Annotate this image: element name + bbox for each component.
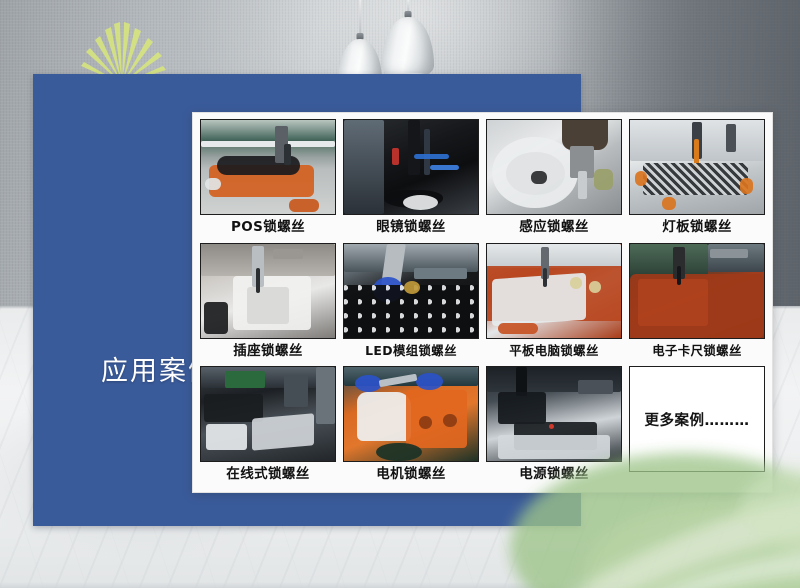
more-cases-label: 更多案例………	[645, 409, 750, 430]
case-item-power[interactable]: 电源锁螺丝	[486, 366, 622, 488]
cases-grid: POS锁螺丝 眼镜锁螺丝	[200, 119, 765, 488]
case-item-glasses[interactable]: 眼镜锁螺丝	[343, 119, 479, 241]
case-item-led[interactable]: LED模组锁螺丝	[343, 243, 479, 365]
case-label: LED模组锁螺丝	[365, 344, 457, 358]
case-label: POS锁螺丝	[231, 220, 305, 235]
case-label: 电子卡尺锁螺丝	[652, 344, 742, 358]
case-thumbnail-sensor[interactable]	[486, 119, 622, 215]
cases-card: POS锁螺丝 眼镜锁螺丝	[192, 112, 773, 493]
case-item-inline[interactable]: 在线式锁螺丝	[200, 366, 336, 488]
case-label: 电源锁螺丝	[519, 467, 589, 482]
more-cases-item[interactable]: 更多案例………	[629, 366, 765, 488]
case-item-socket[interactable]: 插座锁螺丝	[200, 243, 336, 365]
case-thumbnail-led[interactable]	[343, 243, 479, 339]
more-cases-box[interactable]: 更多案例………	[629, 366, 765, 472]
case-label: 插座锁螺丝	[233, 344, 303, 359]
case-thumbnail-pos[interactable]	[200, 119, 336, 215]
case-label: 在线式锁螺丝	[226, 467, 309, 482]
case-thumbnail-tablet[interactable]	[486, 243, 622, 339]
case-label: 感应锁螺丝	[519, 220, 589, 235]
case-thumbnail-motor[interactable]	[343, 366, 479, 462]
case-thumbnail-socket[interactable]	[200, 243, 336, 339]
case-item-caliper[interactable]: 电子卡尺锁螺丝	[629, 243, 765, 365]
case-label: 平板电脑锁螺丝	[509, 344, 599, 358]
slide-canvas: 应用案例 POS锁螺丝	[0, 0, 800, 588]
case-thumbnail-inline[interactable]	[200, 366, 336, 462]
floor-bottom-edge	[0, 582, 800, 588]
case-thumbnail-lamp-board[interactable]	[629, 119, 765, 215]
case-item-pos[interactable]: POS锁螺丝	[200, 119, 336, 241]
case-item-sensor[interactable]: 感应锁螺丝	[486, 119, 622, 241]
case-item-motor[interactable]: 电机锁螺丝	[343, 366, 479, 488]
case-thumbnail-glasses[interactable]	[343, 119, 479, 215]
case-item-tablet[interactable]: 平板电脑锁螺丝	[486, 243, 622, 365]
case-item-lamp-board[interactable]: 灯板锁螺丝	[629, 119, 765, 241]
case-label: 灯板锁螺丝	[662, 220, 732, 235]
case-label: 电机锁螺丝	[376, 467, 446, 482]
case-thumbnail-power[interactable]	[486, 366, 622, 462]
case-label: 眼镜锁螺丝	[376, 220, 446, 235]
case-thumbnail-caliper[interactable]	[629, 243, 765, 339]
